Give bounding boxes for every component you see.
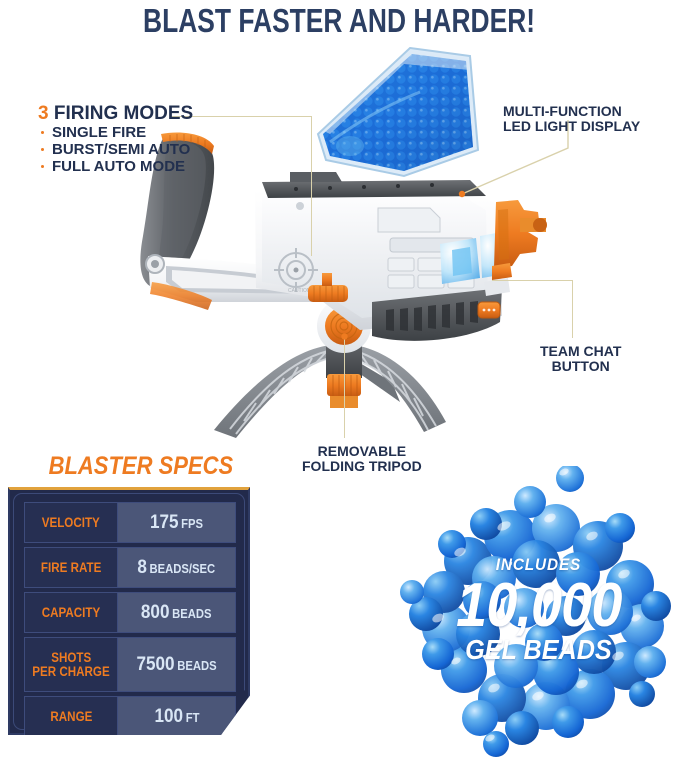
spec-value: 175FPS	[117, 502, 236, 543]
spec-value: 7500BEADS	[117, 637, 236, 692]
svg-text:CAUTION: CAUTION	[288, 288, 311, 294]
bead-cluster	[400, 466, 671, 757]
table-row: RANGE 100FT	[24, 696, 236, 737]
led-display-line2: LED LIGHT DISPLAY	[503, 119, 640, 134]
blaster-specs-panel: VELOCITY 175FPS FIRE RATE 8BEADS/SEC CAP…	[8, 487, 250, 735]
table-row: SHOTS PER CHARGE 7500BEADS	[24, 637, 236, 692]
list-item: SINGLE FIRE	[38, 125, 193, 142]
leader-dot-tripod	[338, 330, 352, 344]
callout-led-display: MULTI-FUNCTION LED LIGHT DISPLAY	[503, 104, 640, 133]
table-row: CAPACITY 800BEADS	[24, 592, 236, 633]
table-row: FIRE RATE 8BEADS/SEC	[24, 547, 236, 588]
spec-value: 8BEADS/SEC	[117, 547, 236, 588]
spec-label: VELOCITY	[24, 502, 117, 543]
callout-firing-modes: 3 FIRING MODES SINGLE FIRE BURST/SEMI AU…	[38, 104, 193, 175]
firing-modes-count: 3	[38, 103, 49, 124]
tripod-line1: REMOVABLE	[302, 444, 422, 459]
spec-label: RANGE	[24, 696, 117, 737]
gel-beads-graphic: INCLUDES 10,000 GEL BEADS	[398, 466, 679, 758]
firing-modes-list: SINGLE FIRE BURST/SEMI AUTO FULL AUTO MO…	[38, 125, 193, 175]
specs-table: VELOCITY 175FPS FIRE RATE 8BEADS/SEC CAP…	[24, 502, 236, 741]
team-chat-line2: BUTTON	[540, 359, 621, 374]
leader-line-tripod-v	[344, 335, 345, 438]
specs-title: BLASTER SPECS	[36, 452, 246, 481]
leader-line-firing-modes-v	[311, 116, 312, 256]
list-item: FULL AUTO MODE	[38, 159, 193, 176]
callout-team-chat: TEAM CHAT BUTTON	[540, 344, 621, 373]
team-chat-button[interactable]	[478, 302, 500, 318]
spec-label: CAPACITY	[24, 592, 117, 633]
firing-modes-title: FIRING MODES	[54, 103, 193, 124]
team-chat-line1: TEAM CHAT	[540, 344, 621, 359]
firing-modes-heading: 3 FIRING MODES	[38, 104, 193, 124]
leader-line-team-chat-v	[572, 280, 573, 338]
spec-value: 100FT	[117, 696, 236, 737]
gel-beads-svg	[398, 466, 679, 758]
spec-label: FIRE RATE	[24, 547, 117, 588]
spec-value: 800BEADS	[117, 592, 236, 633]
list-item: BURST/SEMI AUTO	[38, 142, 193, 159]
spec-label: SHOTS PER CHARGE	[24, 637, 117, 692]
blaster-illustration: CAUTION	[0, 30, 560, 460]
led-display-line1: MULTI-FUNCTION	[503, 104, 640, 119]
leader-line-team-chat-h	[492, 280, 573, 281]
table-row: VELOCITY 175FPS	[24, 502, 236, 543]
blaster-svg: CAUTION	[0, 30, 560, 460]
